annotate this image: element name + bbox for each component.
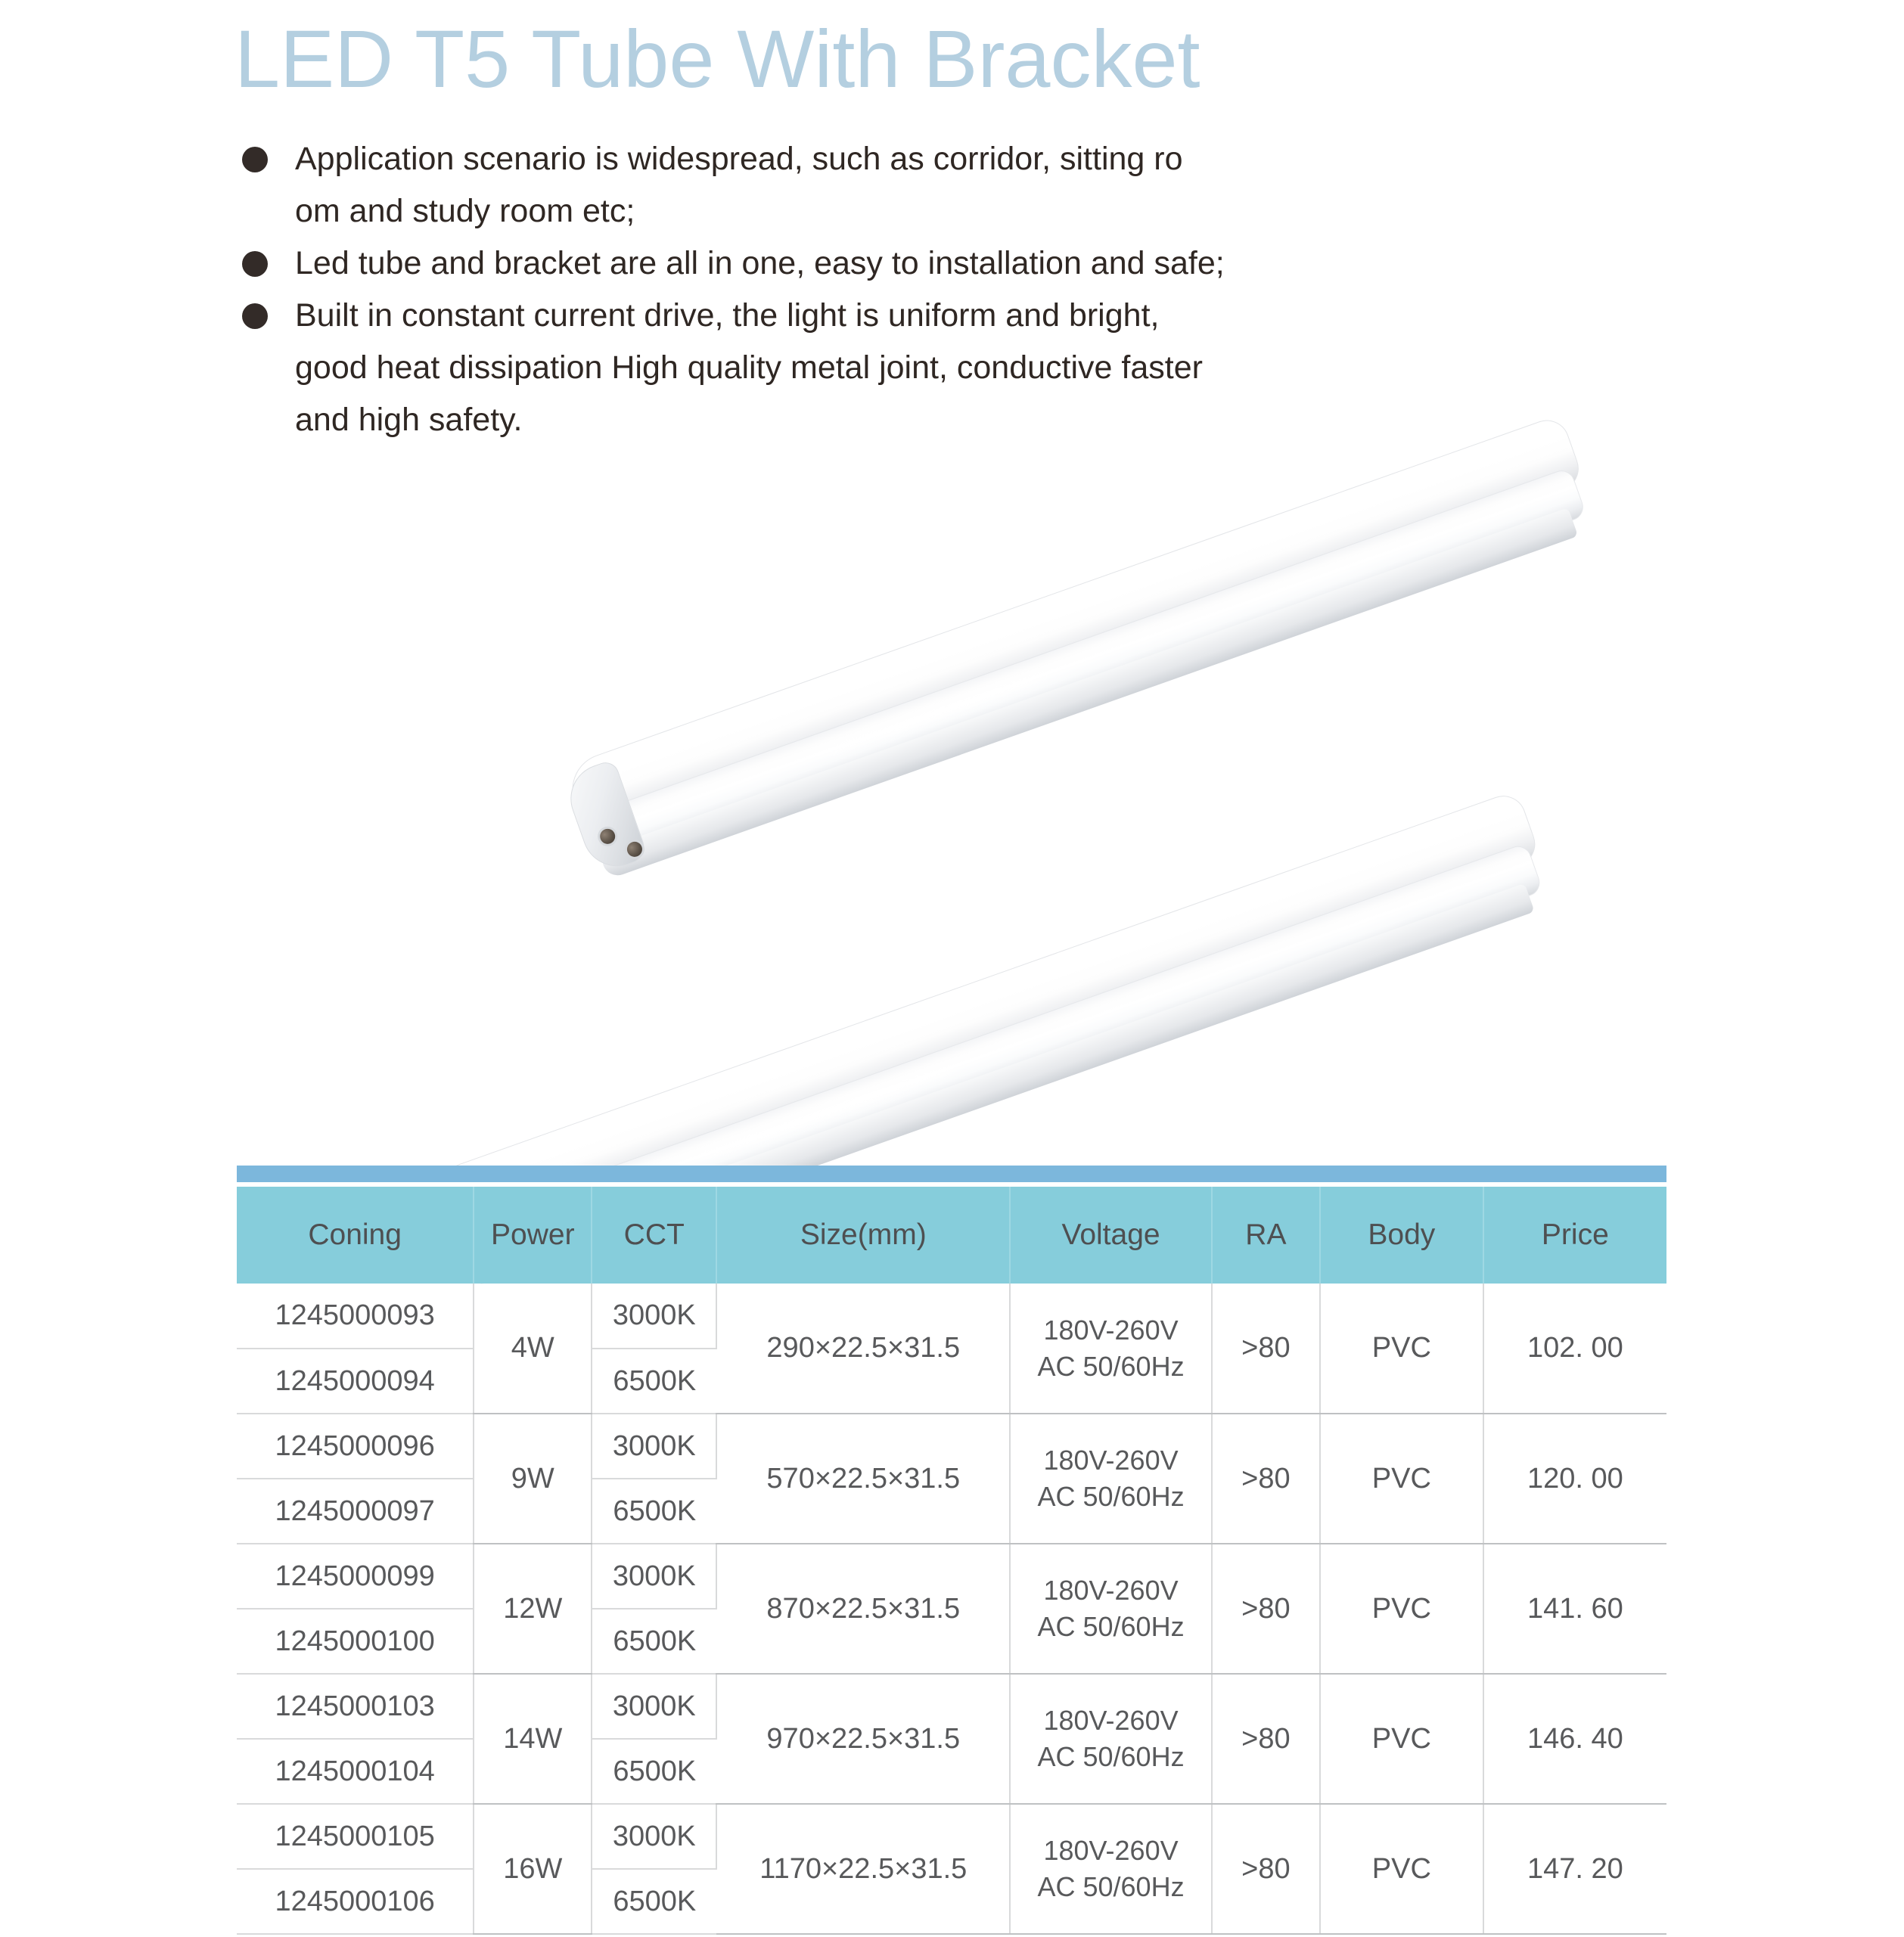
- cell-voltage: 180V-260VAC 50/60Hz: [1010, 1284, 1211, 1414]
- table-accent-bar: [237, 1166, 1666, 1182]
- cell-size: 570×22.5×31.5: [716, 1414, 1010, 1544]
- cell-power: 12W: [474, 1544, 592, 1674]
- bullet-dot-icon: [242, 147, 268, 172]
- cell-coning: 1245000103: [237, 1674, 474, 1739]
- voltage-frequency: AC 50/60Hz: [1015, 1479, 1206, 1515]
- voltage-range: 180V-260V: [1015, 1833, 1206, 1869]
- cell-voltage: 180V-260VAC 50/60Hz: [1010, 1674, 1211, 1804]
- led-t5-tube-upper: [562, 414, 1601, 881]
- cell-voltage: 180V-260VAC 50/60Hz: [1010, 1544, 1211, 1674]
- spec-table-body: 12450000934W3000K290×22.5×31.5180V-260VA…: [237, 1284, 1666, 1934]
- cell-voltage: 180V-260VAC 50/60Hz: [1010, 1804, 1211, 1934]
- cell-cct: 3000K: [592, 1544, 716, 1609]
- feature-list: Application scenario is widespread, such…: [241, 133, 1542, 446]
- cell-price: 120. 00: [1483, 1414, 1666, 1544]
- cell-coning: 1245000104: [237, 1739, 474, 1804]
- cell-size: 1170×22.5×31.5: [716, 1804, 1010, 1934]
- cell-body-material: PVC: [1320, 1674, 1483, 1804]
- column-header-voltage: Voltage: [1010, 1187, 1211, 1284]
- bullet-dot-icon: [242, 303, 268, 329]
- voltage-frequency: AC 50/60Hz: [1015, 1609, 1206, 1645]
- column-header-cct: CCT: [592, 1187, 716, 1284]
- cell-voltage: 180V-260VAC 50/60Hz: [1010, 1414, 1211, 1544]
- table-row: 12450000934W3000K290×22.5×31.5180V-260VA…: [237, 1284, 1666, 1349]
- cell-price: 102. 00: [1483, 1284, 1666, 1414]
- cell-cct: 3000K: [592, 1284, 716, 1349]
- cell-power: 14W: [474, 1674, 592, 1804]
- cell-price: 141. 60: [1483, 1544, 1666, 1674]
- cell-cct: 6500K: [592, 1479, 716, 1544]
- column-header-body: Body: [1320, 1187, 1483, 1284]
- cell-cct: 3000K: [592, 1674, 716, 1739]
- voltage-frequency: AC 50/60Hz: [1015, 1869, 1206, 1905]
- feature-text-line: Led tube and bracket are all in one, eas…: [295, 237, 1542, 290]
- cell-cct: 6500K: [592, 1869, 716, 1934]
- voltage-range: 180V-260V: [1015, 1703, 1206, 1739]
- column-header-price: Price: [1483, 1187, 1666, 1284]
- feature-text-line: good heat dissipation High quality metal…: [295, 342, 1542, 394]
- spec-table-head: ConingPowerCCTSize(mm)VoltageRABodyPrice: [237, 1187, 1666, 1284]
- spec-table-header-row: ConingPowerCCTSize(mm)VoltageRABodyPrice: [237, 1187, 1666, 1284]
- cell-power: 4W: [474, 1284, 592, 1414]
- cell-cct: 6500K: [592, 1349, 716, 1414]
- product-spec-sheet: LED T5 Tube With Bracket Application sce…: [0, 0, 1904, 1937]
- table-row: 124500009912W3000K870×22.5×31.5180V-260V…: [237, 1544, 1666, 1609]
- voltage-range: 180V-260V: [1015, 1572, 1206, 1609]
- voltage-frequency: AC 50/60Hz: [1015, 1349, 1206, 1385]
- cell-body-material: PVC: [1320, 1804, 1483, 1934]
- cell-coning: 1245000099: [237, 1544, 474, 1609]
- cell-cct: 6500K: [592, 1609, 716, 1674]
- spec-table-container: ConingPowerCCTSize(mm)VoltageRABodyPrice…: [237, 1166, 1666, 1935]
- cell-coning: 1245000100: [237, 1609, 474, 1674]
- voltage-range: 180V-260V: [1015, 1312, 1206, 1349]
- feature-text-line: Built in constant current drive, the lig…: [295, 290, 1542, 342]
- cell-coning: 1245000096: [237, 1414, 474, 1479]
- cell-price: 146. 40: [1483, 1674, 1666, 1804]
- cell-ra: >80: [1212, 1804, 1320, 1934]
- cell-ra: >80: [1212, 1674, 1320, 1804]
- cell-size: 870×22.5×31.5: [716, 1544, 1010, 1674]
- cell-coning: 1245000106: [237, 1869, 474, 1934]
- bullet-dot-icon: [242, 251, 268, 277]
- cell-cct: 3000K: [592, 1804, 716, 1869]
- feature-item: Built in constant current drive, the lig…: [241, 290, 1542, 446]
- cell-coning: 1245000097: [237, 1479, 474, 1544]
- cell-ra: >80: [1212, 1414, 1320, 1544]
- cell-body-material: PVC: [1320, 1414, 1483, 1544]
- cell-coning: 1245000105: [237, 1804, 474, 1869]
- feature-text-line: and high safety.: [295, 394, 1542, 446]
- feature-item: Application scenario is widespread, such…: [241, 133, 1542, 237]
- cell-coning: 1245000093: [237, 1284, 474, 1349]
- feature-text-line: om and study room etc;: [295, 185, 1542, 237]
- product-image: [454, 446, 1755, 1157]
- table-row: 12450000969W3000K570×22.5×31.5180V-260VA…: [237, 1414, 1666, 1479]
- cell-body-material: PVC: [1320, 1544, 1483, 1674]
- cell-size: 970×22.5×31.5: [716, 1674, 1010, 1804]
- cell-ra: >80: [1212, 1284, 1320, 1414]
- cell-cct: 3000K: [592, 1414, 716, 1479]
- feature-text-line: Application scenario is widespread, such…: [295, 133, 1542, 185]
- column-header-power: Power: [474, 1187, 592, 1284]
- voltage-frequency: AC 50/60Hz: [1015, 1739, 1206, 1775]
- cell-body-material: PVC: [1320, 1284, 1483, 1414]
- column-header-coning: Coning: [237, 1187, 474, 1284]
- page-title: LED T5 Tube With Bracket: [235, 14, 1200, 104]
- cell-price: 147. 20: [1483, 1804, 1666, 1934]
- voltage-range: 180V-260V: [1015, 1442, 1206, 1479]
- feature-item: Led tube and bracket are all in one, eas…: [241, 237, 1542, 290]
- table-row: 124500010516W3000K1170×22.5×31.5180V-260…: [237, 1804, 1666, 1869]
- spec-table: ConingPowerCCTSize(mm)VoltageRABodyPrice…: [237, 1187, 1666, 1935]
- cell-coning: 1245000094: [237, 1349, 474, 1414]
- column-header-size-mm: Size(mm): [716, 1187, 1010, 1284]
- cell-cct: 6500K: [592, 1739, 716, 1804]
- cell-power: 9W: [474, 1414, 592, 1544]
- cell-ra: >80: [1212, 1544, 1320, 1674]
- column-header-ra: RA: [1212, 1187, 1320, 1284]
- cell-size: 290×22.5×31.5: [716, 1284, 1010, 1414]
- table-row: 124500010314W3000K970×22.5×31.5180V-260V…: [237, 1674, 1666, 1739]
- cell-power: 16W: [474, 1804, 592, 1934]
